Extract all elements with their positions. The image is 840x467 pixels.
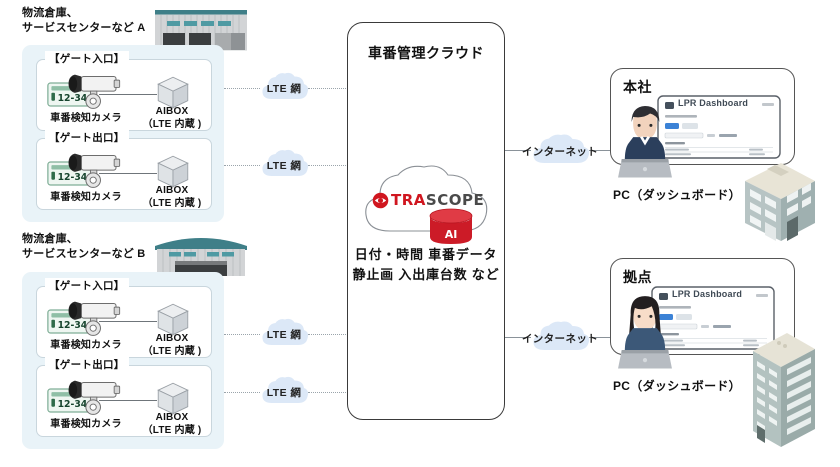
office-building-tall-icon	[743, 325, 823, 455]
connector-site-b-gate2-to-lte	[224, 392, 260, 393]
internet-cloud-head-office: インターネット	[529, 132, 591, 170]
site-a-gate-exit: 【ゲート出口】 車番検知カメラ AIBOX （LTE 内蔵 )	[36, 138, 212, 210]
lte-cloud-label: LTE 網	[267, 327, 301, 342]
internet-cloud-label: インターネット	[522, 331, 598, 346]
aibox-label: AIBOX （LTE 内蔵 )	[133, 106, 211, 131]
site-a-gate-entrance: 【ゲート入口】 車番検知カメラ AIBOX （LTE 内蔵 )	[36, 59, 212, 131]
ai-database-icon: AI	[429, 208, 473, 246]
female-person-with-laptop-icon	[613, 291, 677, 372]
lte-cloud-label: LTE 網	[267, 158, 301, 173]
camera-to-aibox-link	[99, 400, 157, 401]
camera-to-aibox-link	[99, 321, 157, 322]
gate-entrance-label: 【ゲート入口】	[45, 51, 129, 66]
lte-cloud-a-exit: LTE 網	[258, 147, 310, 183]
connector-lte-to-cloud-b1	[308, 334, 348, 335]
connector-site-a-gate2-to-lte	[224, 165, 260, 166]
site-b-title: 物流倉庫、 サービスセンターなど B	[22, 232, 145, 262]
aibox-label: AIBOX （LTE 内蔵 )	[133, 333, 211, 358]
cctv-camera-icon	[63, 71, 127, 113]
site-b-gate-entrance: 【ゲート入口】 車番検知カメラ AIBOX （LTE 内蔵 )	[36, 286, 212, 358]
lte-cloud-label: LTE 網	[267, 385, 301, 400]
trascope-text-primary: TRA	[391, 191, 426, 209]
head-office-caption: PC（ダッシュボード）	[613, 186, 741, 203]
site-b-gate-exit: 【ゲート出口】 車番検知カメラ AIBOX （LTE 内蔵 )	[36, 365, 212, 437]
cctv-camera-icon	[63, 377, 127, 419]
aibox-label: AIBOX （LTE 内蔵 )	[133, 185, 211, 210]
cctv-camera-icon	[63, 298, 127, 340]
camera-label: 車番検知カメラ	[39, 340, 133, 353]
camera-to-aibox-link	[99, 94, 157, 95]
branch-title: 拠点	[623, 267, 652, 287]
lte-cloud-b-exit: LTE 網	[258, 374, 310, 410]
warehouse-curved-roof-icon	[153, 230, 249, 278]
lte-cloud-label: LTE 網	[267, 81, 301, 96]
site-b-group: 【ゲート入口】 車番検知カメラ AIBOX （LTE 内蔵 ) 【ゲート出口】 …	[22, 272, 224, 449]
aibox-label: AIBOX （LTE 内蔵 )	[133, 412, 211, 437]
internet-cloud-branch: インターネット	[529, 319, 591, 357]
gate-exit-label: 【ゲート出口】	[45, 357, 129, 372]
connector-lte-to-cloud-a1	[308, 88, 348, 89]
cloud-panel-title: 車番管理クラウド	[348, 43, 504, 63]
lte-cloud-b-entrance: LTE 網	[258, 316, 310, 352]
internet-cloud-label: インターネット	[522, 144, 598, 159]
camera-label: 車番検知カメラ	[39, 419, 133, 432]
camera-to-aibox-link	[99, 173, 157, 174]
camera-label: 車番検知カメラ	[39, 113, 133, 126]
branch-caption: PC（ダッシュボード）	[613, 377, 741, 394]
head-office-title: 本社	[623, 77, 652, 97]
cctv-camera-icon	[63, 150, 127, 192]
dashboard-title-head-office: LPR Dashboard	[678, 98, 748, 108]
gate-exit-label: 【ゲート出口】	[45, 130, 129, 145]
lte-cloud-a-entrance: LTE 網	[258, 70, 310, 106]
site-a-group: 【ゲート入口】 車番検知カメラ AIBOX （LTE 内蔵 ) 【ゲート出口】 …	[22, 45, 224, 222]
connector-site-b-gate1-to-lte	[224, 334, 260, 335]
connector-site-a-gate1-to-lte	[224, 88, 260, 89]
office-building-low-icon	[737, 155, 821, 247]
svg-text:AI: AI	[445, 228, 458, 241]
connector-lte-to-cloud-b2	[308, 392, 348, 393]
connector-lte-to-cloud-a2	[308, 165, 348, 166]
gate-entrance-label: 【ゲート入口】	[45, 278, 129, 293]
site-a-title: 物流倉庫、 サービスセンターなど A	[22, 6, 145, 36]
trascope-logo: TRASCOPE	[372, 191, 484, 209]
male-person-with-laptop-icon	[613, 100, 677, 181]
trascope-emblem-icon	[372, 192, 389, 209]
trascope-text-secondary: SCOPE	[426, 191, 484, 209]
cloud-data-items: 日付・時間 車番データ 静止画 入出庫台数 など	[348, 245, 504, 285]
dashboard-title-branch: LPR Dashboard	[672, 289, 742, 299]
cloud-management-panel: 車番管理クラウド TRASCOPE AI 日付・時間 車番データ 静止画 入出庫…	[347, 22, 505, 420]
camera-label: 車番検知カメラ	[39, 192, 133, 205]
